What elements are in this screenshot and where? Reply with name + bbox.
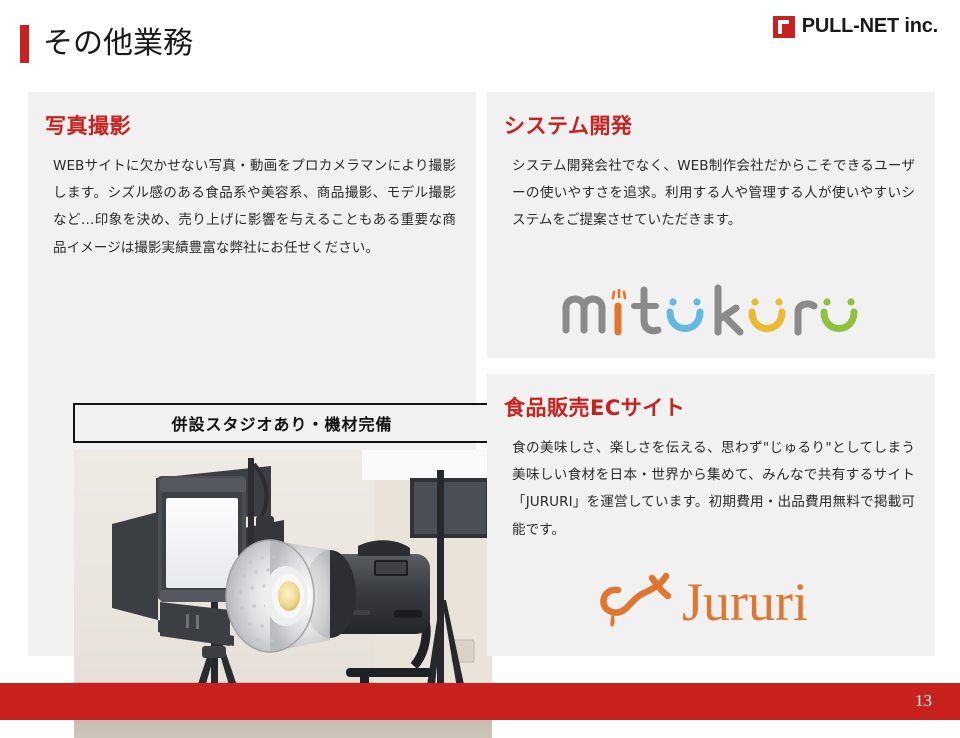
jururi-logo: Jururi xyxy=(590,566,850,636)
card-system-body: システム開発会社でなく、WEB制作会社だからこそできるユーザーの使いやすさを追求… xyxy=(512,153,915,235)
card-photography: 写真撮影 WEBサイトに欠かせない写真・動画をプロカメラマンにより撮影します。シ… xyxy=(28,92,476,656)
page-title-label: その他業務 xyxy=(43,29,193,59)
title-accent-bar-icon xyxy=(20,25,29,63)
mitukuru-logo xyxy=(560,278,860,344)
pullnet-square-logo-icon xyxy=(773,16,795,38)
card-photography-body: WEBサイトに欠かせない写真・動画をプロカメラマンにより撮影します。シズル感のあ… xyxy=(53,153,456,262)
footer-bar xyxy=(0,683,960,720)
brand-logo: PULL-NET inc. xyxy=(773,15,938,38)
page-number: 13 xyxy=(915,691,932,711)
card-ec-body: 食の美味しさ、楽しさを伝える、思わず"じゅるり"としてしまう美味しい食材を日本・… xyxy=(512,435,915,544)
slide-root: PULL-NET inc. その他業務 写真撮影 WEBサイトに欠かせない写真・… xyxy=(0,0,960,720)
studio-badge: 併設スタジオあり・機材完備 xyxy=(73,403,491,443)
card-system-title: システム開発 xyxy=(504,110,935,140)
card-photography-title: 写真撮影 xyxy=(45,110,476,140)
brand-name: PULL-NET inc. xyxy=(802,15,938,38)
page-title: その他業務 xyxy=(20,25,193,63)
card-ec-title: 食品販売ECサイト xyxy=(504,392,935,422)
svg-text:Jururi: Jururi xyxy=(682,572,808,632)
